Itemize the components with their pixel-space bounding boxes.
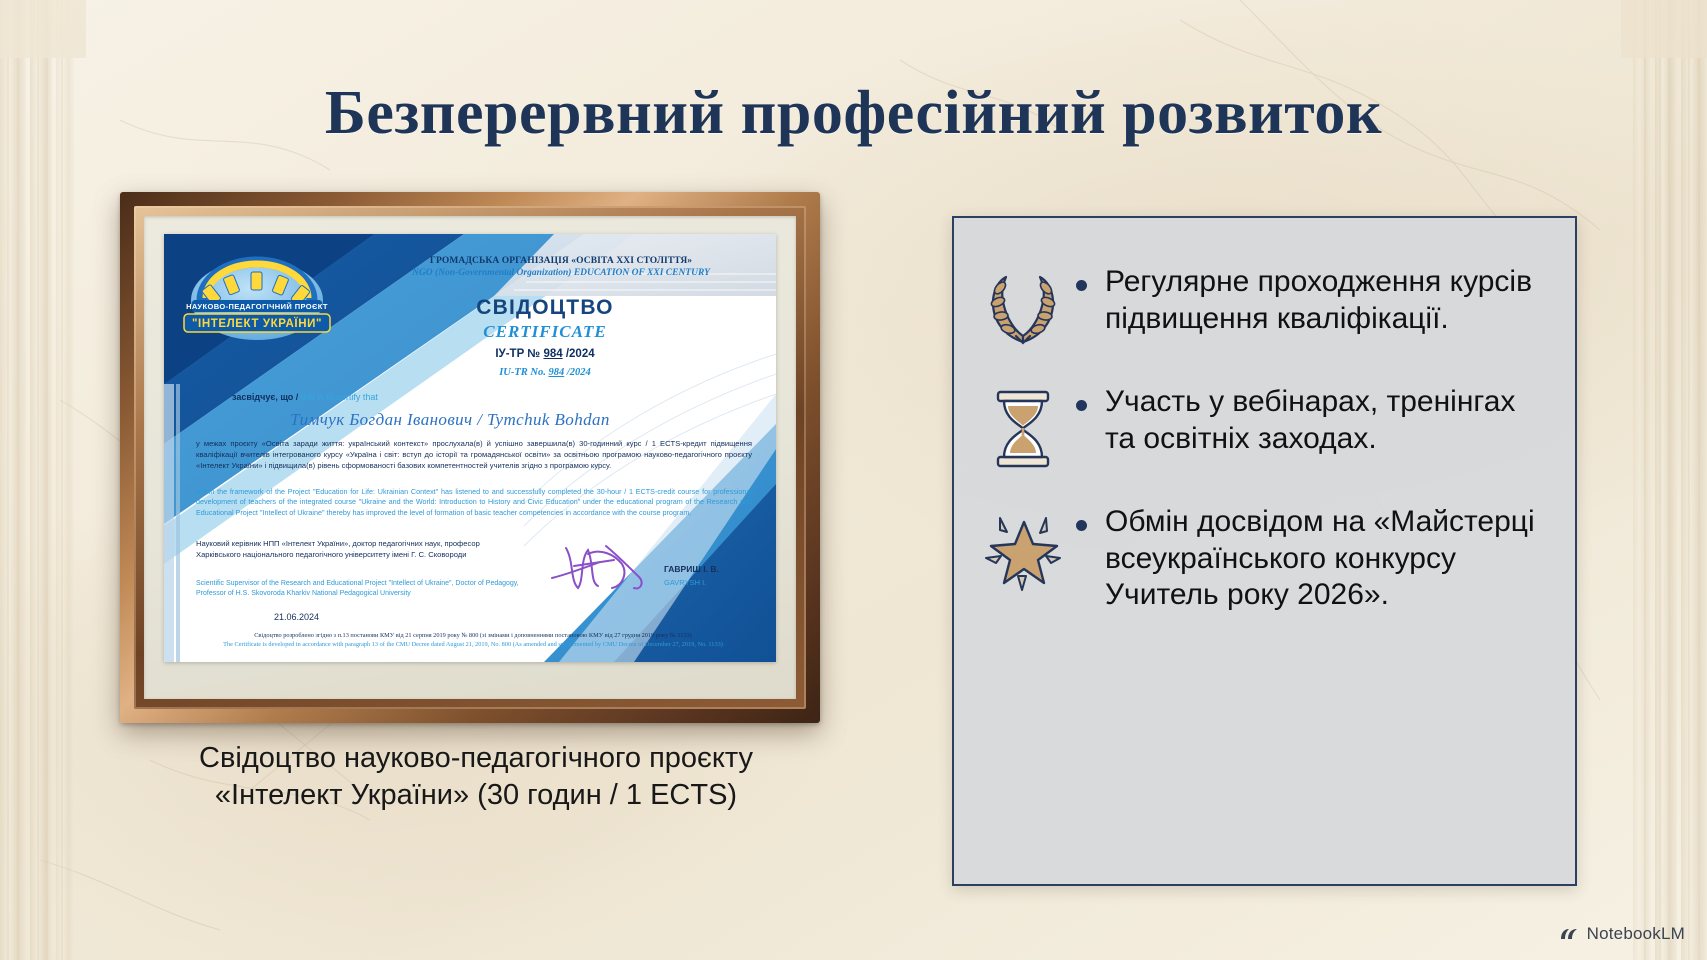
bullet-list: Регулярне проходження курсів підвищення … xyxy=(954,218,1575,884)
recipient-name: Тимчук Богдан Іванович / Tymchuk Bohdan xyxy=(164,410,736,430)
svg-text:"ІНТЕЛЕКТ УКРАЇНИ": "ІНТЕЛЕКТ УКРАЇНИ" xyxy=(192,317,322,330)
bullet-panel: Регулярне проходження курсів підвищення … xyxy=(952,216,1577,886)
bullet-text: Участь у вебінарах, тренінгах та освітні… xyxy=(1105,384,1541,457)
hourglass-icon xyxy=(980,384,1066,470)
certificate-organization-block: ГРОМАДСЬКА ОРГАНІЗАЦІЯ «ОСВІТА XXI СТОЛІ… xyxy=(354,256,768,280)
sparkling-star-icon xyxy=(980,504,1066,590)
signer-name-ua: ГАВРИШ І. В. xyxy=(664,564,719,574)
certify-text-ua: засвідчує, що / xyxy=(232,392,298,402)
signer-name-en: GAVRYSH I. xyxy=(664,578,706,587)
caption-line-1: Свідоцтво науково-педагогічного проєкту xyxy=(96,740,856,777)
bullet-text: Обмін досвідом на «Майстерці всеукраїнсь… xyxy=(1105,504,1541,614)
certificate-caption: Свідоцтво науково-педагогічного проєкту … xyxy=(96,740,856,814)
supervisor-title-ua: Науковий керівник НПП «Інтелект України»… xyxy=(196,539,526,561)
number-year-en: /2024 xyxy=(567,367,591,378)
organization-name-en: NGO (Non-Governmental Organization) EDUC… xyxy=(354,268,768,280)
organization-name-ua: ГРОМАДСЬКА ОРГАНІЗАЦІЯ «ОСВІТА XXI СТОЛІ… xyxy=(354,256,768,268)
list-item: Обмін досвідом на «Майстерці всеукраїнсь… xyxy=(980,504,1541,614)
number-value-en: 984 xyxy=(549,367,565,378)
list-item: Участь у вебінарах, тренінгах та освітні… xyxy=(980,384,1541,470)
certificate-number-ua: ІУ-ТР № 984 /2024 xyxy=(354,348,736,360)
certificate-date: 21.06.2024 xyxy=(274,612,319,622)
number-prefix-en: IU-TR No. xyxy=(499,367,546,378)
certificate-body-ua: у межах проєкту «Освіта заради життя: ук… xyxy=(196,438,752,471)
intellect-of-ukraine-logo-icon: НАУКОВО-ПЕДАГОГІЧНИЙ ПРОЄКТ "ІНТЕЛЕКТ УК… xyxy=(172,248,342,340)
bullet-point-marker xyxy=(1076,280,1087,291)
recipient-name-en: Tymchuk Bohdan xyxy=(487,410,610,429)
laurel-wreath-icon xyxy=(980,264,1066,350)
notebooklm-logo-icon xyxy=(1559,926,1580,943)
recipient-separator: / xyxy=(477,410,482,429)
certificate-number-en: IU-TR No. 984 /2024 xyxy=(354,367,736,378)
slide-canvas: Безперервний професійний розвиток xyxy=(0,0,1707,960)
handwritten-signature-icon xyxy=(544,534,664,596)
legal-notice-ua: Свідоцтво розроблено згідно з п.13 поста… xyxy=(188,632,758,641)
bullet-text: Регулярне проходження курсів підвищення … xyxy=(1105,264,1541,337)
certify-text-en: this is to certify that xyxy=(301,392,378,402)
number-prefix-ua: ІУ-ТР № xyxy=(495,348,540,360)
certificate-heading-ua: СВІДОЦТВО xyxy=(354,296,736,320)
slide-title: Безперервний професійний розвиток xyxy=(0,78,1707,149)
watermark-label: NotebookLM xyxy=(1587,924,1685,944)
notebooklm-watermark: NotebookLM xyxy=(1559,924,1685,944)
recipient-name-ua: Тимчук Богдан Іванович xyxy=(290,410,472,429)
bullet-point-marker xyxy=(1076,400,1087,411)
svg-text:НАУКОВО-ПЕДАГОГІЧНИЙ ПРОЄКТ: НАУКОВО-ПЕДАГОГІЧНИЙ ПРОЄКТ xyxy=(186,302,328,311)
supervisor-title-en: Scientific Supervisor of the Research an… xyxy=(196,579,546,599)
certify-line: засвідчує, що / this is to certify that xyxy=(232,392,378,402)
certificate-legal-notice: Свідоцтво розроблено згідно з п.13 поста… xyxy=(188,632,758,649)
caption-line-2: «Інтелект України» (30 годин / 1 ECTS) xyxy=(96,777,856,814)
list-item: Регулярне проходження курсів підвищення … xyxy=(980,264,1541,350)
number-year-ua: /2024 xyxy=(566,348,595,360)
certificate-body-en: within the framework of the Project "Edu… xyxy=(196,487,752,518)
bullet-point-marker xyxy=(1076,520,1087,531)
certificate-heading-en: CERTIFICATE xyxy=(354,322,736,342)
number-value-ua: 984 xyxy=(543,348,562,360)
certificate-frame: НАУКОВО-ПЕДАГОГІЧНИЙ ПРОЄКТ "ІНТЕЛЕКТ УК… xyxy=(120,192,820,723)
certificate-document: НАУКОВО-ПЕДАГОГІЧНИЙ ПРОЄКТ "ІНТЕЛЕКТ УК… xyxy=(164,234,776,662)
legal-notice-en: The Certificate is developed in accordan… xyxy=(188,641,758,650)
